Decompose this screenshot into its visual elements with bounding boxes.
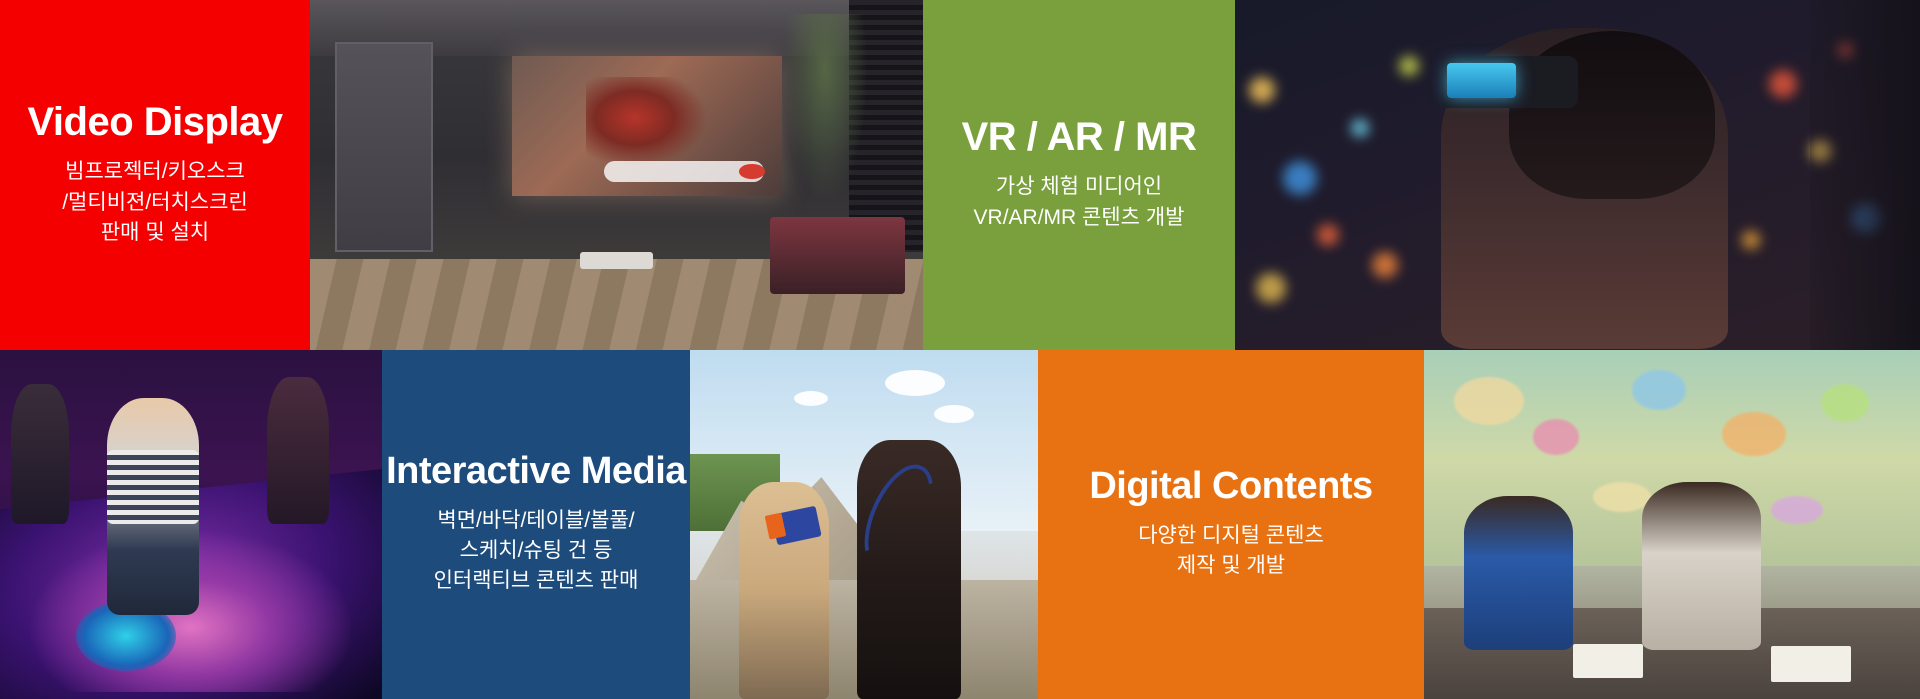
subtitle-line: 다양한 디지털 콘텐츠 [1138,521,1324,551]
panel-digital-contents-subtitle: 다양한 디지털 콘텐츠 제작 및 개발 [1138,521,1324,582]
panel-vr-ar-mr[interactable]: VR / AR / MR 가상 체험 미디어인 VR/AR/MR 콘텐츠 개발 [923,0,1235,350]
paper-sheet [1573,644,1643,678]
photo-interactive-floor [0,350,382,699]
subtitle-line: 제작 및 개발 [1138,551,1324,581]
paper-sheet [1771,646,1851,682]
panel-interactive-media[interactable]: Interactive Media 벽면/바닥/테이블/볼풀/ 스케치/슈팅 건… [382,350,690,699]
foreground-child [107,398,199,615]
service-category-board: Video Display 빔프로젝터/키오스크 /멀티비젼/터치스크린 판매 … [0,0,1920,699]
vr-headset-lens-glow [1447,63,1516,98]
panel-digital-contents[interactable]: Digital Contents 다양한 디지털 콘텐츠 제작 및 개발 [1038,350,1424,699]
subtitle-line: 인터랙티브 콘텐츠 판매 [434,566,639,596]
projected-flower-image [586,77,709,168]
panel-interactive-media-subtitle: 벽면/바닥/테이블/볼풀/ 스케치/슈팅 건 등 인터랙티브 콘텐츠 판매 [434,506,639,597]
photo-vr-headset-woman [1235,0,1920,350]
photo-ar-archery-kids [690,350,1038,699]
door-shape [335,42,433,252]
subtitle-line: 벽면/바닥/테이블/볼풀/ [434,506,639,536]
projection-blob [1454,377,1524,425]
projector-device [580,252,654,269]
photo-kids-drawing [1424,350,1920,699]
subtitle-line: 판매 및 설치 [62,218,248,248]
child-drawing-right [1642,482,1761,650]
photo-projector-room [310,0,923,350]
background-child-left [11,384,68,524]
panel-video-display-subtitle: 빔프로젝터/키오스크 /멀티비젼/터치스크린 판매 및 설치 [62,157,248,248]
subtitle-line: /멀티비젼/터치스크린 [62,188,248,218]
subtitle-line: 빔프로젝터/키오스크 [62,157,248,187]
subtitle-line: 가상 체험 미디어인 [974,172,1185,202]
panel-row-bottom: Interactive Media 벽면/바닥/테이블/볼풀/ 스케치/슈팅 건… [0,350,1920,699]
subtitle-line: 스케치/슈팅 건 등 [434,536,639,566]
projected-play-dot-icon [739,164,765,179]
panel-row-top: Video Display 빔프로젝터/키오스크 /멀티비젼/터치스크린 판매 … [0,0,1920,350]
curtain-shape [1810,0,1920,350]
panel-interactive-media-title: Interactive Media [386,452,686,492]
couch-shape [770,217,905,294]
panel-digital-contents-title: Digital Contents [1089,467,1372,507]
houseplant-shape [782,14,868,203]
child-drawing-left [1464,496,1573,650]
striped-shirt [107,450,199,524]
background-child-right [267,377,328,524]
panel-vr-ar-mr-title: VR / AR / MR [962,116,1197,158]
panel-video-display-title: Video Display [27,101,282,143]
panel-vr-ar-mr-subtitle: 가상 체험 미디어인 VR/AR/MR 콘텐츠 개발 [974,172,1185,233]
projection-blob [1593,482,1651,512]
projection-blob [1722,412,1786,456]
subtitle-line: VR/AR/MR 콘텐츠 개발 [974,203,1185,233]
panel-video-display[interactable]: Video Display 빔프로젝터/키오스크 /멀티비젼/터치스크린 판매 … [0,0,310,350]
